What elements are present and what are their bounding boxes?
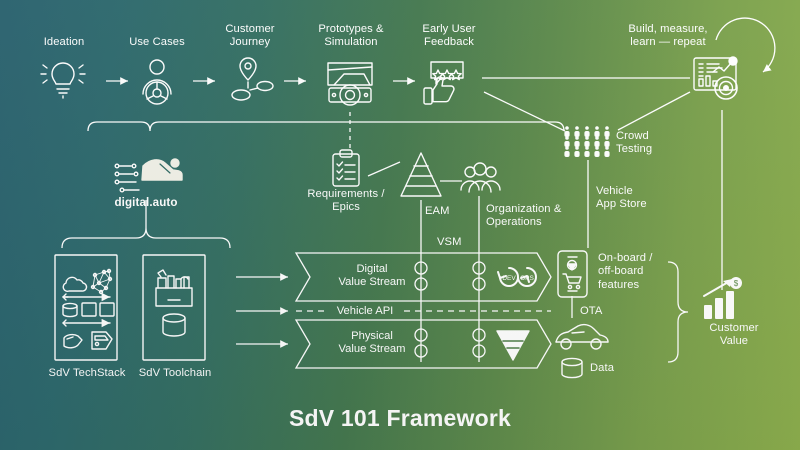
svg-text:$: $ xyxy=(734,279,739,288)
step-label-use-cases: Use Cases xyxy=(118,36,196,49)
people-group-icon xyxy=(461,163,500,192)
digital-auto-label: digital.auto xyxy=(96,196,196,209)
cloud-icon xyxy=(63,277,86,291)
phone-cart-icon xyxy=(558,251,587,297)
customer-value-label: Customer Value xyxy=(688,322,780,349)
database-icon xyxy=(163,314,185,336)
physical-value-stream-label: Physical Value Stream xyxy=(316,330,428,357)
toolchain-box xyxy=(143,255,205,360)
database-icon xyxy=(63,303,77,316)
data-label: Data xyxy=(590,362,640,375)
eam-label: EAM xyxy=(425,205,465,218)
vehicle-app-store-label: Vehicle App Store xyxy=(596,185,666,212)
neural-network-icon xyxy=(92,270,112,294)
devops-infinity-icon: DEV OPS xyxy=(498,268,536,286)
step-label-prototypes-simulation: Prototypes & Simulation xyxy=(306,23,396,50)
simulator-screen-steering-wheel-icon xyxy=(328,63,372,105)
clipboard-checklist-icon xyxy=(333,150,359,186)
onboard-offboard-features-label: On-board / off-board features xyxy=(598,252,672,292)
toolbox-icon xyxy=(156,270,192,306)
requirements-epics-label: Requirements / Epics xyxy=(298,188,394,215)
svg-text:OPS: OPS xyxy=(520,275,534,282)
side-mirror-icon xyxy=(64,335,82,348)
pyramid-icon xyxy=(401,153,441,196)
techstack-box xyxy=(55,255,117,360)
thumbs-up-stars-icon xyxy=(424,62,463,104)
driver-person-icon xyxy=(143,60,171,104)
sdv-toolchain-label: SdV Toolchain xyxy=(130,367,220,380)
crowd-testing-label: Crowd Testing xyxy=(616,130,686,157)
analytics-dashboard-icon xyxy=(694,57,737,99)
lightbulb-icon xyxy=(41,63,85,98)
organization-operations-label: Organization & Operations xyxy=(486,203,564,230)
car-door-icon xyxy=(92,332,112,349)
vsm-label: VSM xyxy=(437,236,477,249)
module-box-icon xyxy=(100,303,114,316)
ota-label: OTA xyxy=(580,305,620,318)
step-label-early-user-feedback: Early User Feedback xyxy=(410,23,488,50)
module-box-icon xyxy=(82,303,96,316)
map-pin-route-icon xyxy=(232,58,273,100)
crowd-people-icon xyxy=(564,126,609,157)
circuit-car-icon xyxy=(115,159,182,192)
v-model-icon xyxy=(497,331,529,360)
step-label-ideation: Ideation xyxy=(28,36,100,49)
car-side-icon xyxy=(556,325,608,349)
growth-bars-dollar-icon: $ xyxy=(704,277,742,319)
vehicle-api-label: Vehicle API xyxy=(325,305,405,318)
step-label-customer-journey: Customer Journey xyxy=(212,23,288,50)
build-measure-learn-label: Build, measure, learn — repeat xyxy=(612,23,724,50)
sdv-techstack-label: SdV TechStack xyxy=(41,367,133,380)
svg-text:DEV: DEV xyxy=(502,275,516,282)
sdv-framework-diagram: DEV OPS xyxy=(0,0,800,450)
icons-layer: DEV OPS xyxy=(0,0,800,450)
digital-value-stream-label: Digital Value Stream xyxy=(316,263,428,290)
page-title: SdV 101 Framework xyxy=(0,405,800,432)
database-icon xyxy=(562,358,582,377)
